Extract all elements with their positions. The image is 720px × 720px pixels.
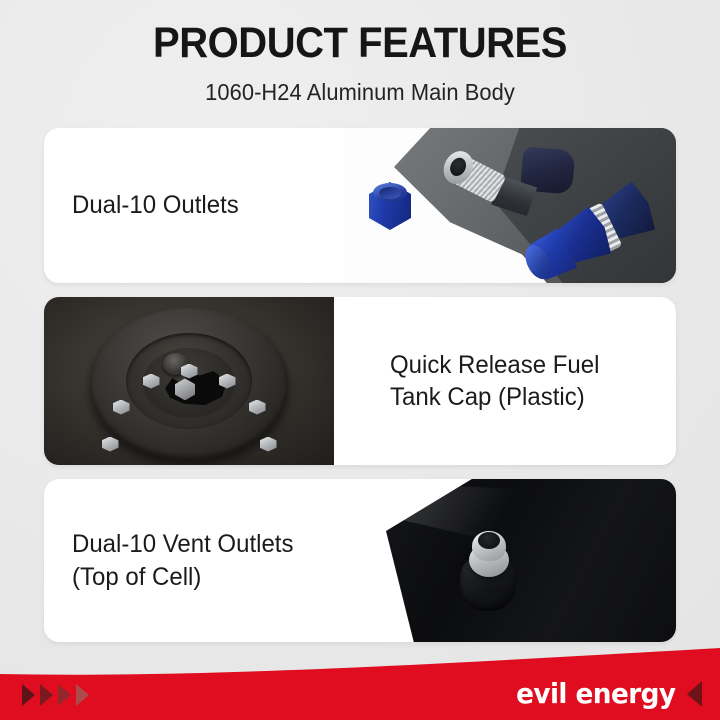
cap-bolt — [102, 437, 119, 452]
page-subtitle: 1060-H24 Aluminum Main Body — [18, 65, 702, 106]
blue-hex-nut-icon — [369, 182, 411, 230]
feature-label: Dual-10 Outlets — [72, 189, 239, 222]
feature-text-block: Quick Release Fuel Tank Cap (Plastic) — [334, 297, 676, 465]
chevron-decoration — [22, 684, 89, 706]
feature-image-vent-outlet — [374, 479, 676, 642]
feature-label: Quick Release Fuel Tank Cap (Plastic) — [390, 349, 599, 414]
fuel-cap-photo — [44, 297, 334, 465]
tank-vent-photo — [374, 479, 676, 642]
feature-text-block: Dual-10 Outlets — [44, 128, 344, 283]
chevron-right-icon — [40, 684, 53, 706]
feature-card-dual-10-outlets: Dual-10 Outlets — [44, 128, 676, 283]
feature-image-dual-10-outlets — [344, 128, 676, 283]
header: PRODUCT FEATURES 1060-H24 Aluminum Main … — [0, 0, 720, 118]
feature-image-fuel-cap — [44, 297, 334, 465]
feature-card-dual-10-vent-outlets: Dual-10 Vent Outlets (Top of Cell) — [44, 479, 676, 642]
triangle-left-icon — [687, 681, 702, 707]
page-title: PRODUCT FEATURES — [25, 0, 695, 65]
feature-label: Dual-10 Vent Outlets (Top of Cell) — [72, 528, 293, 593]
footer: evil energy — [0, 648, 720, 720]
chevron-right-icon — [58, 684, 71, 706]
chevron-right-icon — [22, 684, 35, 706]
chevron-right-icon — [76, 684, 89, 706]
brand-logo: evil energy — [511, 680, 702, 708]
brand-name: evil energy — [516, 680, 675, 708]
product-features-infographic: PRODUCT FEATURES 1060-H24 Aluminum Main … — [0, 0, 720, 720]
feature-text-block: Dual-10 Vent Outlets (Top of Cell) — [44, 479, 374, 642]
an-fittings-photo — [344, 128, 676, 283]
cap-bolt — [260, 437, 277, 452]
feature-card-quick-release-fuel-tank-cap: Quick Release Fuel Tank Cap (Plastic) — [44, 297, 676, 465]
silver-vent-fitting-icon — [456, 527, 520, 613]
